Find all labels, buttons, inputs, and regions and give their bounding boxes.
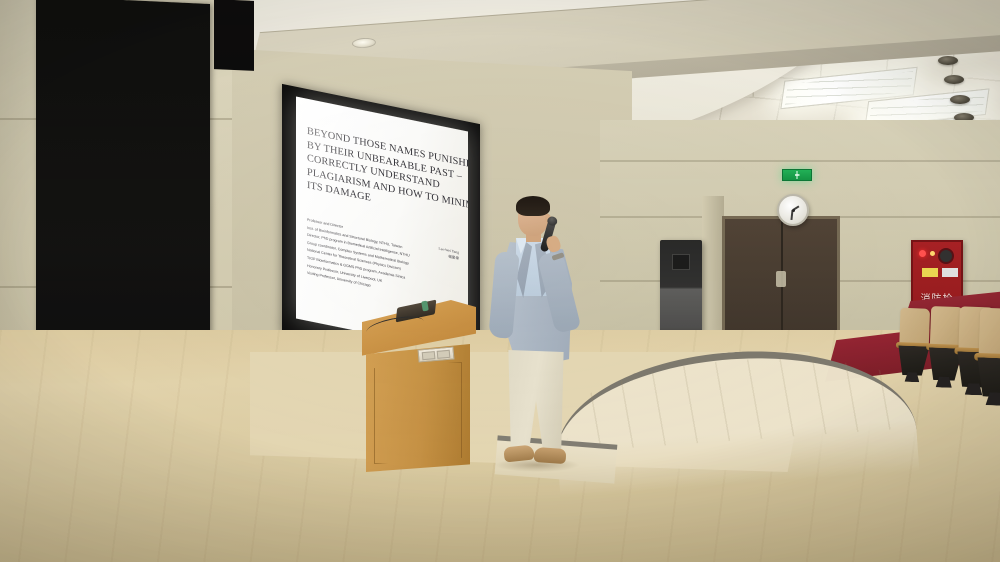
shoe-right (534, 447, 567, 464)
ceiling-speaker-icon (944, 75, 964, 84)
door-handle-icon (776, 271, 786, 287)
exit-sign (782, 169, 812, 181)
alarm-bell-icon (938, 248, 954, 264)
clock-center-pin (792, 209, 795, 212)
slide-title: BEYOND THOSE NAMES PUNISHED BY THEIR UNB… (307, 125, 457, 223)
wall-clock (777, 194, 809, 226)
lecture-hall-photo: BEYOND THOSE NAMES PUNISHED BY THEIR UNB… (0, 0, 1000, 562)
ceiling-speaker-icon (950, 95, 970, 104)
white-label (942, 268, 958, 277)
lectern-podium (362, 300, 476, 472)
auditorium-seat (973, 308, 1000, 409)
indicator-lamp-icon (930, 251, 935, 256)
podium-front-inset (374, 362, 462, 464)
black-wall-panel-upper (214, 0, 254, 71)
exit-person-icon (795, 171, 800, 179)
yellow-label (922, 268, 938, 277)
shoe-left (503, 444, 534, 462)
ceiling-speaker-icon (938, 56, 958, 65)
alarm-lamp-icon (919, 250, 926, 257)
slide-speaker-name: Lee-Wei Yang 楊里偉 (439, 246, 459, 262)
trousers (506, 350, 566, 452)
slide-affiliation-block: Professor and Director Inst. of Bioinfor… (307, 217, 427, 302)
hair (516, 196, 550, 216)
presenter-person (488, 196, 584, 472)
